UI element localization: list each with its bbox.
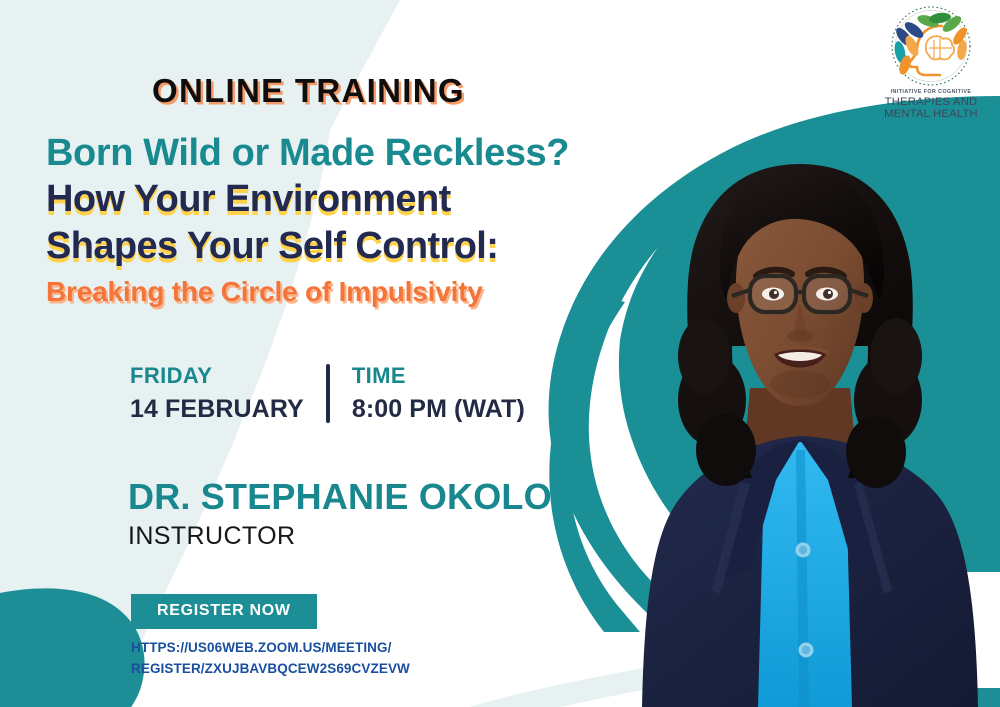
time-value: 8:00 PM (WAT) bbox=[352, 393, 525, 426]
logo-line-2: THERAPIES AND bbox=[876, 96, 986, 109]
logo-wordmark: INITIATIVE FOR COGNITIVE THERAPIES AND M… bbox=[876, 90, 986, 121]
schedule-block: FRIDAY 14 FEBRUARY TIME 8:00 PM (WAT) bbox=[130, 362, 525, 425]
headline-block: Born Wild or Made Reckless? How Your Env… bbox=[46, 134, 569, 306]
schedule-time: TIME 8:00 PM (WAT) bbox=[352, 362, 525, 425]
registration-url-link[interactable]: HTTPS://US06WEB.ZOOM.US/MEETING/ REGISTE… bbox=[131, 638, 410, 680]
kicker-online-training: ONLINE TRAINING bbox=[152, 72, 465, 110]
webinar-flyer: INITIATIVE FOR COGNITIVE THERAPIES AND M… bbox=[0, 0, 1000, 707]
date-label: FRIDAY bbox=[130, 362, 304, 390]
registration-block: REGISTER NOW HTTPS://US06WEB.ZOOM.US/MEE… bbox=[131, 594, 410, 680]
headline-line-2: How Your Environment bbox=[46, 180, 569, 218]
date-value: 14 FEBRUARY bbox=[130, 393, 304, 426]
speaker-name: DR. STEPHANIE OKOLO bbox=[128, 478, 552, 516]
schedule-divider bbox=[326, 364, 330, 423]
headline-line-4: Breaking the Circle of Impulsivity bbox=[46, 278, 569, 306]
organization-logo: INITIATIVE FOR COGNITIVE THERAPIES AND M… bbox=[876, 4, 986, 121]
register-now-button[interactable]: REGISTER NOW bbox=[131, 594, 317, 629]
speaker-block: DR. STEPHANIE OKOLO INSTRUCTOR bbox=[128, 478, 552, 551]
headline-line-3: Shapes Your Self Control: bbox=[46, 227, 569, 265]
logo-emblem-icon bbox=[876, 4, 986, 92]
headline-line-1: Born Wild or Made Reckless? bbox=[46, 134, 569, 172]
logo-line-3: MENTAL HEALTH bbox=[876, 108, 986, 121]
schedule-date: FRIDAY 14 FEBRUARY bbox=[130, 362, 304, 425]
time-label: TIME bbox=[352, 362, 525, 390]
speaker-role: INSTRUCTOR bbox=[128, 522, 552, 551]
